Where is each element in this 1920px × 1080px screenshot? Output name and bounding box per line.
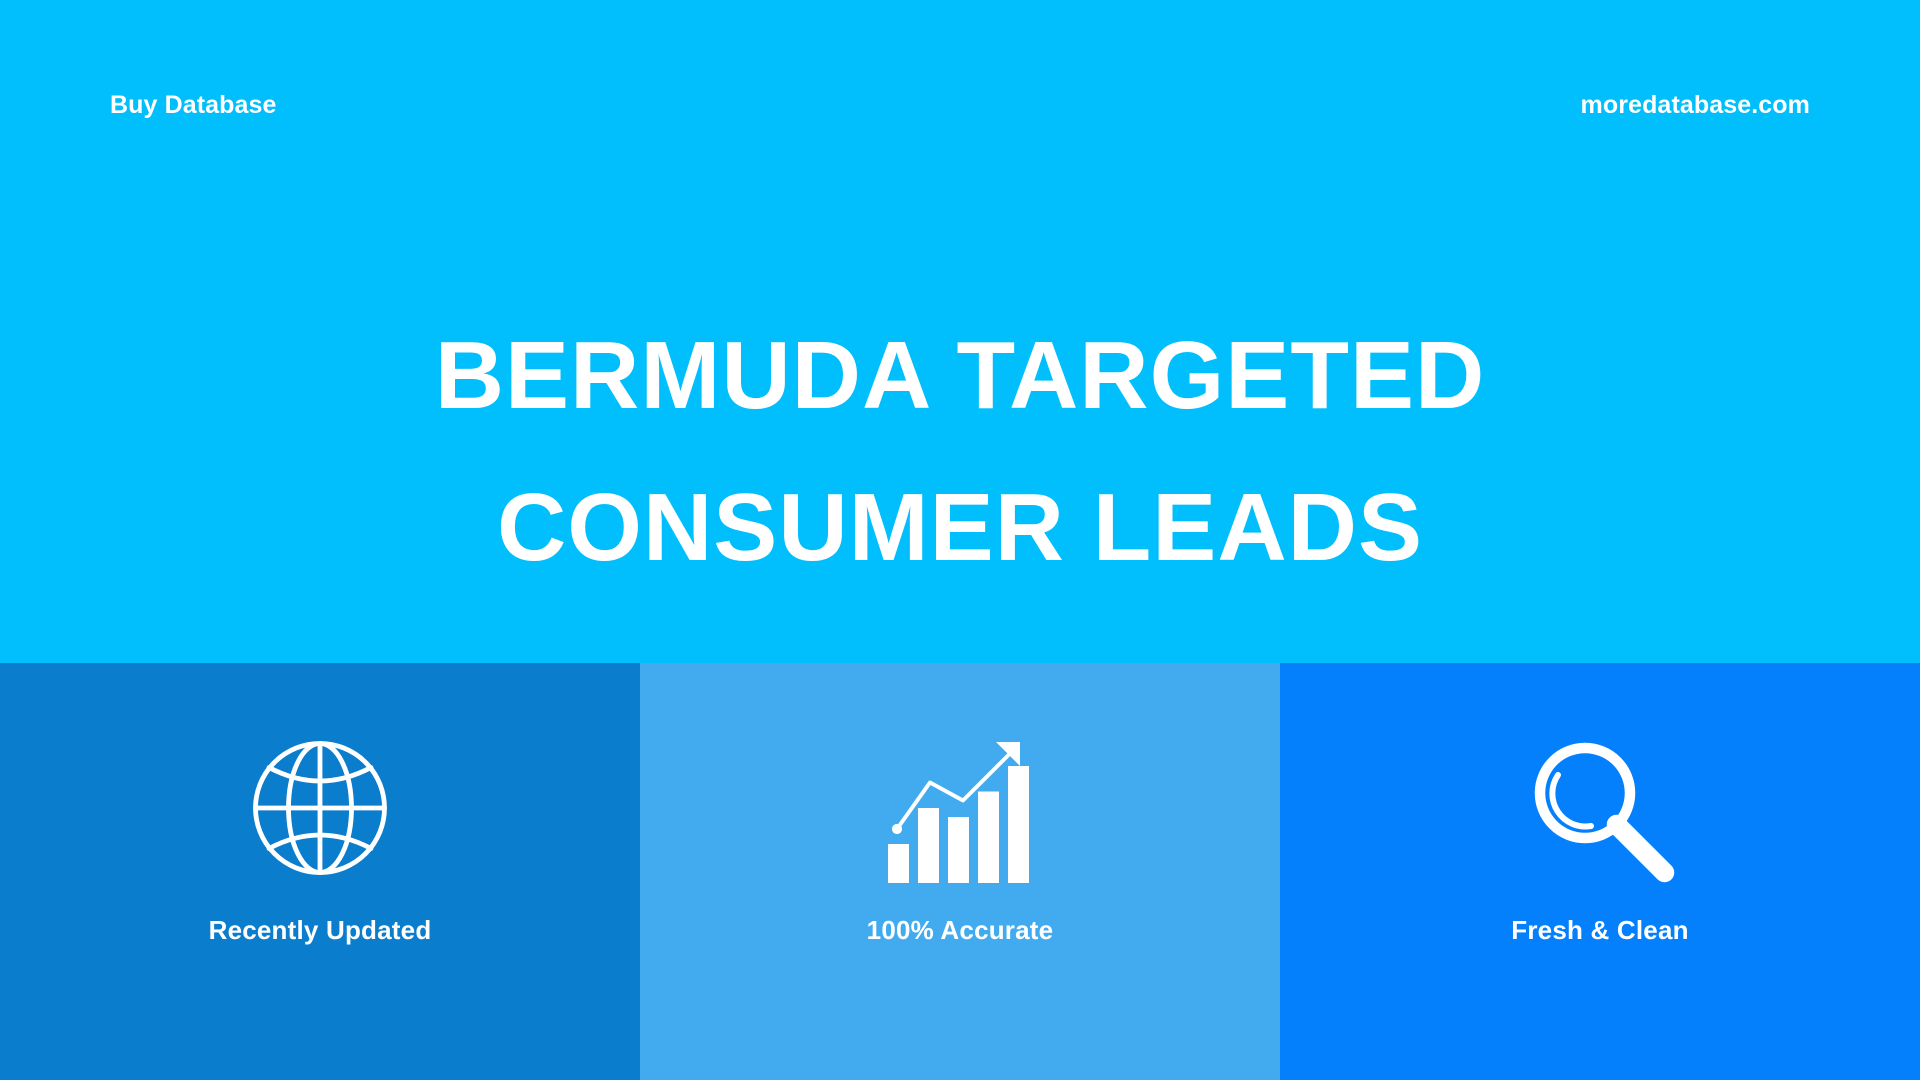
- page-title-line-2: CONSUMER LEADS: [0, 452, 1920, 604]
- feature-panel-fresh-clean: Fresh & Clean: [1280, 663, 1920, 1080]
- feature-label: Fresh & Clean: [1511, 915, 1688, 946]
- brand-name: Buy Database: [110, 91, 277, 120]
- magnifying-glass-icon: [1525, 733, 1675, 883]
- hero-header-bar: Buy Database moredatabase.com: [0, 0, 1920, 210]
- feature-panel-recently-updated: Recently Updated: [0, 663, 640, 1080]
- poster-canvas: Buy Database moredatabase.com BERMUDA TA…: [0, 0, 1920, 1080]
- feature-label: Recently Updated: [209, 915, 432, 946]
- page-title: BERMUDA TARGETED CONSUMER LEADS: [0, 300, 1920, 604]
- website-url: moredatabase.com: [1581, 91, 1810, 120]
- bar-chart-growth-icon: [885, 733, 1035, 883]
- hero-banner: Buy Database moredatabase.com BERMUDA TA…: [0, 0, 1920, 663]
- feature-panel-accurate: 100% Accurate: [640, 663, 1280, 1080]
- feature-label: 100% Accurate: [867, 915, 1054, 946]
- feature-strip: Recently Updated: [0, 663, 1920, 1080]
- page-title-line-1: BERMUDA TARGETED: [0, 300, 1920, 452]
- globe-icon: [245, 733, 395, 883]
